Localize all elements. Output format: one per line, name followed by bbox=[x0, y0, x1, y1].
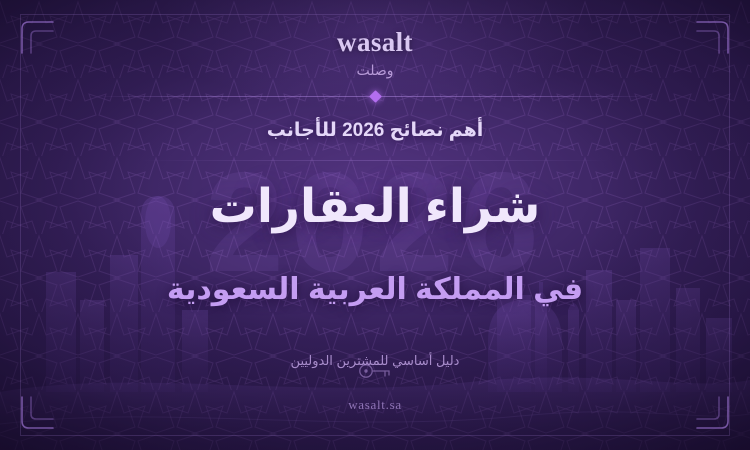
page-subtitle: في المملكة العربية السعودية bbox=[167, 272, 583, 308]
ornamental-divider bbox=[95, 92, 655, 101]
key-icon bbox=[358, 362, 392, 380]
secondary-divider bbox=[140, 160, 610, 161]
eyebrow-text: أهم نصائح 2026 للأجانب bbox=[267, 120, 484, 143]
footer-domain: wasalt.sa bbox=[0, 398, 750, 411]
page-title: شراء العقارات bbox=[210, 180, 541, 233]
poster-canvas: 2026 wasalt وصلت bbox=[0, 0, 750, 450]
poster-content: wasalt وصلت أهم نصائح 2026 للأجانب شراء … bbox=[0, 0, 750, 450]
brand-logo: wasalt bbox=[337, 29, 413, 56]
brand-logo-arabic: وصلت bbox=[356, 63, 393, 77]
diamond-accent-icon bbox=[369, 90, 382, 103]
